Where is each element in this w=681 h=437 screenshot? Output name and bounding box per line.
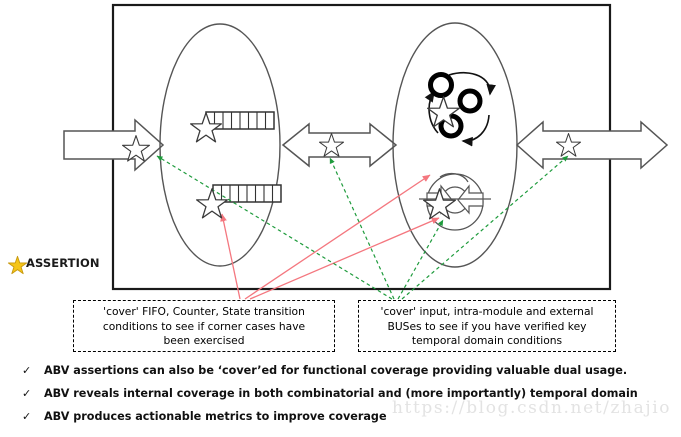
checkmark-icon: ✓ bbox=[22, 410, 44, 424]
list-item: ✓ ABV reveals internal coverage in both … bbox=[0, 387, 681, 401]
slide-root: ASSERTION 'cover' FIFO, Counter, State t… bbox=[0, 0, 681, 437]
callout-right: 'cover' input, intra-module and external… bbox=[358, 300, 616, 352]
gold-star-icon bbox=[8, 256, 26, 273]
bullet-list: ✓ ABV assertions can also be ‘cover’ed f… bbox=[0, 364, 681, 433]
callout-left-line-1: 'cover' FIFO, Counter, State transition bbox=[79, 305, 329, 320]
bullet-text-2: ABV reveals internal coverage in both co… bbox=[44, 387, 681, 401]
assertion-legend-label: ASSERTION bbox=[26, 256, 100, 270]
checkmark-icon: ✓ bbox=[22, 364, 44, 378]
bullet-text-1: ABV assertions can also be ‘cover’ed for… bbox=[44, 364, 681, 378]
list-item: ✓ ABV assertions can also be ‘cover’ed f… bbox=[0, 364, 681, 378]
callout-right-line-1: 'cover' input, intra-module and external bbox=[364, 305, 610, 320]
callout-left-line-3: been exercised bbox=[79, 334, 329, 349]
callout-left: 'cover' FIFO, Counter, State transition … bbox=[73, 300, 335, 352]
list-item: ✓ ABV produces actionable metrics to imp… bbox=[0, 410, 681, 424]
callout-right-line-3: temporal domain conditions bbox=[364, 334, 610, 349]
callout-left-line-2: conditions to see if corner cases have bbox=[79, 320, 329, 335]
checkmark-icon: ✓ bbox=[22, 387, 44, 401]
callout-right-line-2: BUSes to see if you have verified key bbox=[364, 320, 610, 335]
bullet-text-3: ABV produces actionable metrics to impro… bbox=[44, 410, 681, 424]
